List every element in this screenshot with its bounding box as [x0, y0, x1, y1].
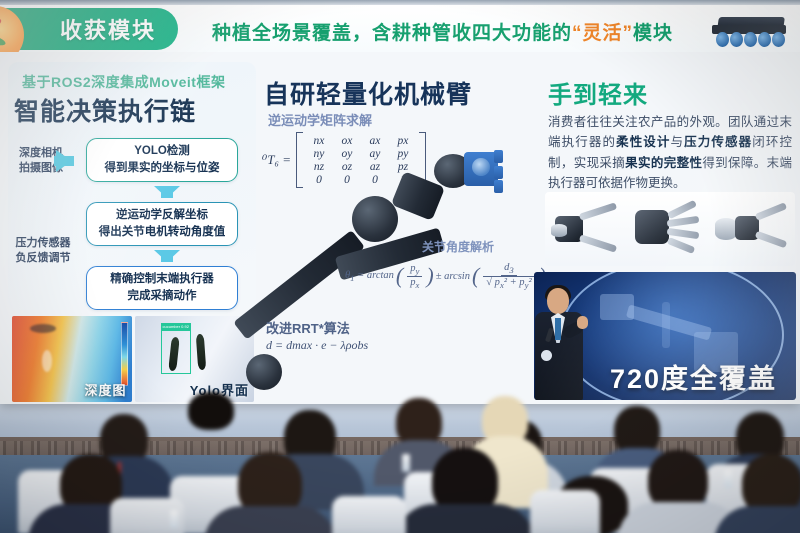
- flow-arrow-right-icon: [56, 150, 72, 172]
- module-badge: 收获模块: [0, 8, 178, 50]
- body-part-2: 与: [671, 135, 685, 149]
- header-quote-open: “: [572, 23, 583, 44]
- yolo-detection-image: cucumber 0.92 Yolo界面: [135, 316, 255, 402]
- screen-bezel: [0, 0, 800, 5]
- matrix-cell: ax: [362, 135, 388, 147]
- rrt-formula: d = dmax · e − λρobs: [266, 338, 368, 353]
- column2-title: 自研轻量化机械臂: [264, 75, 472, 111]
- header-subtitle-prefix: 种植全场景覆盖，含耕种管收四大功能的: [212, 23, 572, 44]
- body-bold-1: 柔性设计: [616, 135, 670, 149]
- header-subtitle-emphasis: 灵活: [583, 23, 623, 44]
- seated-audience: [0, 392, 800, 533]
- flow-step-1-line1: YOLO检测: [134, 143, 190, 160]
- gripper-hand-image: [633, 200, 705, 258]
- gripper-claw-image: [715, 200, 787, 258]
- column1-photo-row: 深度图 cucumber 0.92 Yolo界面: [12, 316, 254, 402]
- matrix-cell: ox: [334, 135, 360, 147]
- gripper-open-image: [551, 200, 623, 258]
- column1-eyebrow: 基于ROS2深度集成Moveit框架: [22, 72, 225, 92]
- slide-header: 收获模块 种植全场景覆盖，含耕种管收四大功能的“灵活”模块: [0, 5, 800, 52]
- gripper-image-strip: [545, 192, 795, 266]
- header-subtitle-suffix: 模块: [633, 23, 673, 44]
- flow-step-1: YOLO检测 得到果实的坐标与位姿: [86, 138, 238, 182]
- column3-body: 消费者往往关注农产品的外观。团队通过末端执行器的柔性设计与压力传感器闭环控制，实…: [548, 112, 792, 193]
- side-label-pressure-sensor: 压力传感器 负反馈调节: [6, 236, 80, 267]
- column1-title: 智能决策执行链: [14, 92, 196, 128]
- slide-header-subtitle: 种植全场景覆盖，含耕种管收四大功能的“灵活”模块: [212, 18, 673, 45]
- column3-title: 手到轻来: [548, 75, 648, 110]
- conference-photo-scene: 收获模块 种植全场景覆盖，含耕种管收四大功能的“灵活”模块 基于ROS2深度集成…: [0, 0, 800, 533]
- presentation-screen: 收获模块 种植全场景覆盖，含耕种管收四大功能的“灵活”模块 基于ROS2深度集成…: [0, 0, 800, 404]
- matrix-cell: px: [390, 135, 416, 147]
- joint-angle-label: 关节角度解析: [422, 238, 494, 255]
- flow-step-3-line1: 精确控制末端执行器: [110, 271, 214, 288]
- farm-implement-icon: [710, 13, 792, 49]
- flow-step-3: 精确控制末端执行器 完成采摘动作: [86, 266, 238, 310]
- body-bold-2: 压力传感器: [684, 135, 752, 149]
- flow-step-3-line2: 完成采摘动作: [128, 288, 197, 305]
- joint-angle-formula: θ1 = arctan ( pypx ) ± arcsin ( d3√ px² …: [345, 262, 546, 291]
- flow-step-1-line2: 得到果实的坐标与位姿: [105, 160, 220, 177]
- matrix-cell: nx: [306, 135, 332, 147]
- header-quote-close: ”: [623, 23, 634, 44]
- flow-arrow-down-2-icon: [154, 250, 180, 262]
- yolo-box-tag: cucumber 0.92: [161, 323, 191, 331]
- flow-step-2-line1: 逆运动学反解坐标: [116, 207, 208, 224]
- vegetable-circle-icon: [0, 6, 24, 52]
- matrix-label: 逆运动学矩阵求解: [268, 110, 372, 129]
- depth-map-image: 深度图: [12, 316, 132, 402]
- body-bold-3: 果实的完整性: [625, 156, 702, 170]
- flow-step-2: 逆运动学反解坐标 得出关节电机转动角度值: [86, 202, 238, 246]
- yolo-bounding-box: cucumber 0.92: [161, 330, 191, 374]
- module-badge-label: 收获模块: [60, 13, 156, 45]
- rrt-label: 改进RRT*算法: [266, 318, 350, 337]
- flow-step-2-line2: 得出关节电机转动角度值: [99, 224, 226, 241]
- flow-arrow-down-1-icon: [154, 186, 180, 198]
- speaker-at-podium: [533, 288, 585, 400]
- video-caption: 720度全覆盖: [610, 357, 777, 396]
